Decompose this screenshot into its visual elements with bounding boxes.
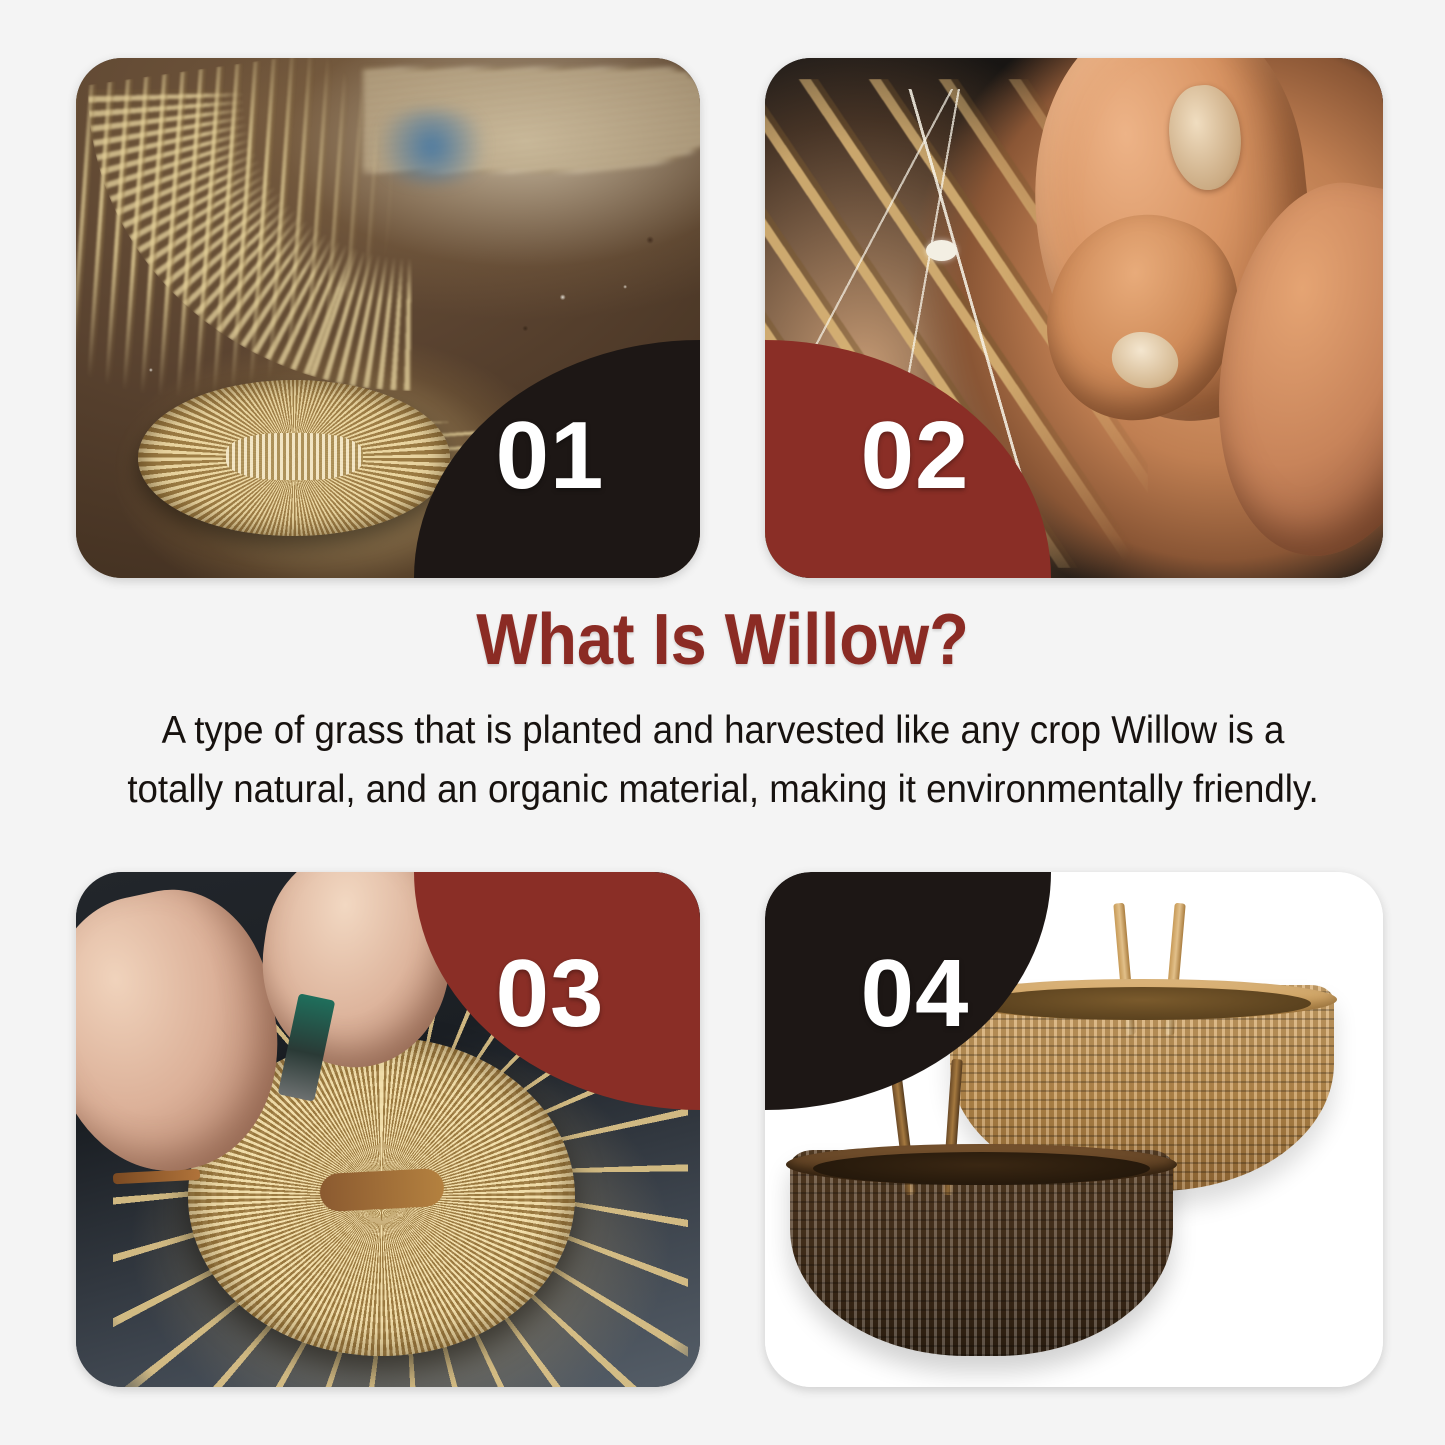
photo-2-knot (926, 240, 957, 261)
image-card-04: 04 (765, 872, 1383, 1387)
infographic-poster: 01 02 03 (0, 0, 1445, 1445)
page-title: What Is Willow? (72, 604, 1373, 676)
centre-text-block: What Is Willow? A type of grass that is … (0, 604, 1445, 819)
step-number-label: 03 (496, 946, 605, 1042)
image-card-03: 03 (76, 872, 700, 1387)
basket-dark-brown (790, 1150, 1173, 1356)
body-paragraph: A type of grass that is planted and harv… (112, 702, 1334, 819)
step-number-label: 02 (861, 408, 970, 504)
basket-dark-interior (813, 1152, 1150, 1185)
step-number-label: 01 (496, 408, 605, 504)
step-number-label: 04 (861, 946, 970, 1042)
image-card-01: 01 (76, 58, 700, 578)
image-card-02: 02 (765, 58, 1383, 578)
